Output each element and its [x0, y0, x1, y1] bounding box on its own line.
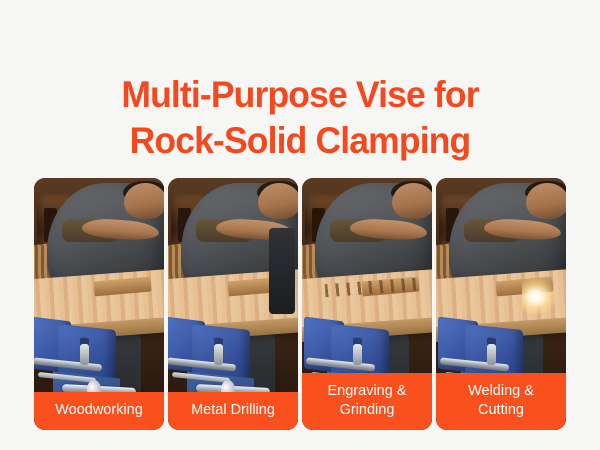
promo-banner: Multi-Purpose Vise for Rock-Solid Clampi… — [0, 0, 600, 450]
use-case-card-welding-cutting[interactable]: Welding & Cutting — [436, 178, 566, 430]
card-label-line-1: Welding & — [440, 382, 562, 401]
card-label-metal-drilling: Metal Drilling — [168, 392, 298, 430]
card-label-line-1: Metal Drilling — [172, 401, 294, 420]
vise-screw — [487, 344, 496, 365]
page-title: Multi-Purpose Vise for Rock-Solid Clampi… — [12, 72, 588, 164]
card-label-engraving-grinding: Engraving & Grinding — [302, 373, 432, 430]
worker-head — [392, 183, 432, 219]
vise-screw — [80, 344, 89, 365]
worker-head — [258, 183, 298, 219]
use-case-card-woodworking[interactable]: Woodworking — [34, 178, 164, 430]
card-label-welding-cutting: Welding & Cutting — [436, 373, 566, 430]
worker-head — [526, 183, 566, 219]
card-label-line-2: Grinding — [306, 401, 428, 420]
vise-screw — [353, 344, 362, 365]
torch-spark — [522, 279, 556, 314]
card-label-line-1: Woodworking — [38, 401, 160, 420]
use-case-card-row: Woodworking — [34, 178, 566, 430]
page-title-line-1: Multi-Purpose Vise for — [12, 72, 588, 118]
vise-screw — [214, 344, 223, 365]
card-label-line-2: Cutting — [440, 401, 562, 420]
drill-press — [269, 228, 295, 314]
page-title-line-2: Rock-Solid Clamping — [12, 118, 588, 164]
use-case-card-metal-drilling[interactable]: Metal Drilling — [168, 178, 298, 430]
worker-head — [124, 183, 164, 219]
use-case-card-engraving-grinding[interactable]: Engraving & Grinding — [302, 178, 432, 430]
card-label-line-1: Engraving & — [306, 382, 428, 401]
card-label-woodworking: Woodworking — [34, 392, 164, 430]
